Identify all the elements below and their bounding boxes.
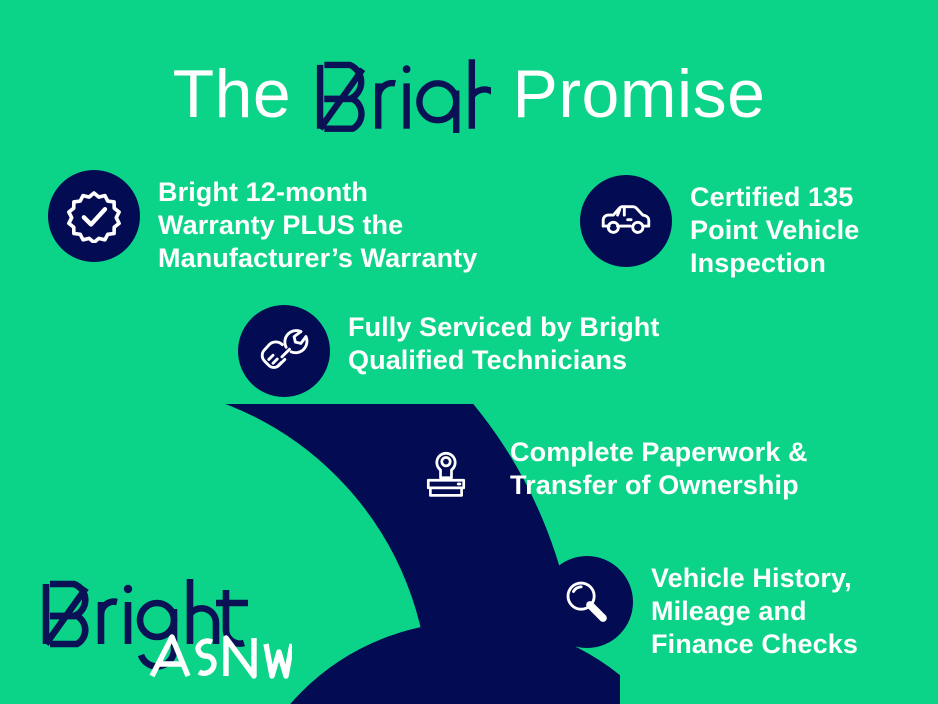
logo-i-dot [124,585,132,593]
rosette-check-icon [48,170,140,262]
wrench-hand-icon [238,305,330,397]
feature-item-servicing: Fully Serviced by Bright Qualified Techn… [238,305,698,397]
feature-label: Bright 12-month Warranty PLUS the Manufa… [158,170,518,275]
feature-label: Certified 135 Point Vehicle Inspection [690,175,938,280]
stamp-icon [400,430,492,522]
feature-item-paperwork: Complete Paperwork & Transfer of Ownersh… [400,430,850,522]
feature-item-inspection: Certified 135 Point Vehicle Inspection [580,175,938,280]
title-suffix: Promise [513,60,766,128]
small-arc-ring [280,670,660,704]
magnifier-icon [541,556,633,648]
promise-graphic: The Promise [0,0,938,704]
car-icon [580,175,672,267]
feature-label: Fully Serviced by Bright Qualified Techn… [348,305,698,377]
bright-logotype-title [313,55,490,133]
brightasnew-logo [40,576,292,680]
page-title: The Promise [0,44,938,144]
feature-label: Vehicle History, Mileage and Finance Che… [651,556,938,661]
title-prefix: The [173,60,292,128]
feature-item-history-checks: Vehicle History, Mileage and Finance Che… [541,556,938,661]
logo-bright-word [46,579,248,666]
feature-item-warranty: Bright 12-month Warranty PLUS the Manufa… [48,170,518,275]
feature-label: Complete Paperwork & Transfer of Ownersh… [510,430,850,502]
